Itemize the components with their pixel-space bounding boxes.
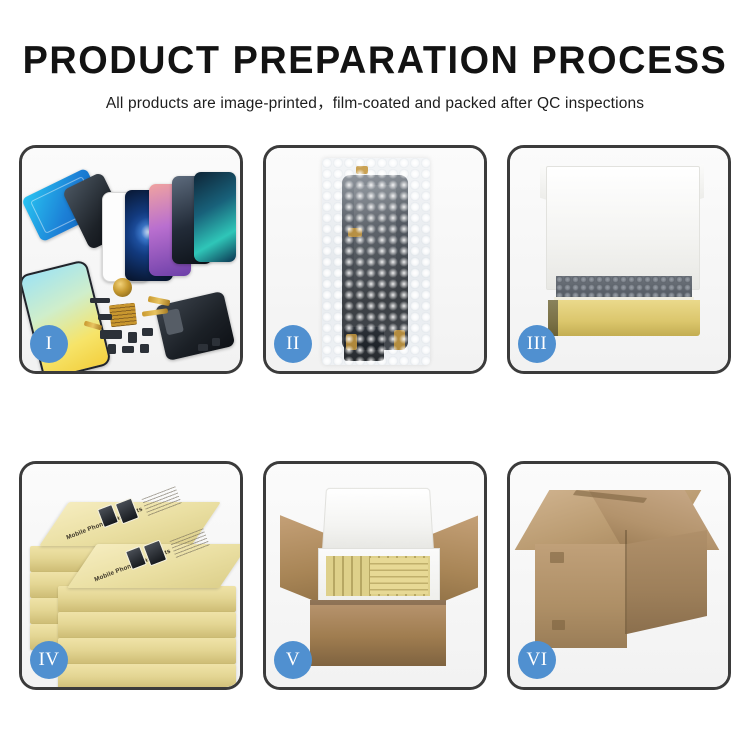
process-step-grid: I II III (19, 145, 731, 690)
process-step-panel-4[interactable]: Mobile Phone Spare Parts Mobile Phone Sp… (19, 461, 243, 690)
foam-liner-lid (322, 488, 434, 553)
header: PRODUCT PREPARATION PROCESS All products… (0, 0, 750, 113)
step-badge-5: V (274, 641, 312, 679)
packed-boxes (370, 558, 428, 594)
small-part-graphic (108, 344, 116, 354)
page-subtitle: All products are image-printed，film-coat… (0, 82, 750, 113)
small-part-graphic (128, 332, 137, 343)
speaker-component-graphic (113, 278, 132, 297)
stacked-box (58, 664, 236, 690)
tape-piece (356, 166, 368, 174)
process-step-panel-5[interactable]: V (263, 461, 487, 690)
process-step-panel-1[interactable]: I (19, 145, 243, 374)
stacked-box (58, 638, 236, 664)
carton-side-face (627, 530, 707, 634)
carton-front-face (535, 544, 627, 648)
small-part-graphic (140, 344, 149, 353)
process-step-panel-6[interactable]: VI (507, 461, 731, 690)
carton-body (310, 600, 446, 666)
small-part-graphic (198, 344, 208, 351)
step-badge-6: VI (518, 641, 556, 679)
carton-tape-patch (552, 620, 565, 630)
wrapped-screen-assembly (342, 175, 408, 350)
step-badge-2: II (274, 325, 312, 363)
stacked-box (58, 586, 236, 612)
teal-phone-graphic (194, 172, 236, 262)
small-part-graphic (142, 328, 153, 336)
small-part-graphic (122, 346, 134, 353)
chip-component-graphic (109, 303, 137, 328)
stacked-box (58, 612, 236, 638)
bubble-wrap-bag (322, 158, 430, 365)
small-part-graphic (90, 298, 110, 303)
carton-corner-seam (625, 530, 627, 634)
tape-piece (346, 334, 357, 350)
carton-tape-patch (550, 552, 564, 563)
step-badge-4: IV (30, 641, 68, 679)
small-part-graphic (212, 338, 220, 346)
tape-piece (348, 228, 362, 237)
box-tray-front (548, 300, 700, 336)
box-lid-panel (546, 166, 700, 290)
tape-piece (394, 330, 405, 350)
process-step-panel-2[interactable]: II (263, 145, 487, 374)
step-badge-3: III (518, 325, 556, 363)
small-part-graphic (98, 314, 112, 320)
process-step-panel-3[interactable]: III (507, 145, 731, 374)
small-part-graphic (100, 330, 122, 339)
step-badge-1: I (30, 325, 68, 363)
page-title: PRODUCT PREPARATION PROCESS (11, 0, 739, 82)
